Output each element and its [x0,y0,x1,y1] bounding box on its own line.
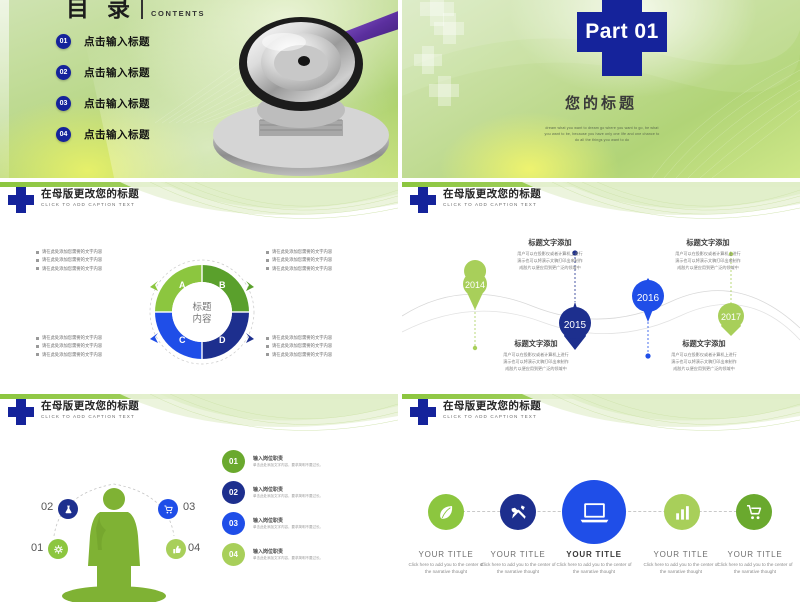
slide-timeline[interactable]: 在母版更改您的标题 CLICK TO ADD CAPTION TEXT 2014… [402,182,800,390]
role-text: 输入岗位职责 单击此处添加文字内容，要求简明不要过长。 [253,548,323,562]
header-title-en: CLICK TO ADD CAPTION TEXT [41,414,139,419]
timeline-entry-title: 标题文字添加 [480,339,592,349]
slide-contents[interactable]: 目 录 CONTENTS 01 点击输入标题 02 点击输入标题 03 点击输入… [0,0,398,178]
roles-list: 01 输入岗位职责 单击此处添加文字内容，要求简明不要过长。 02 输入岗位职责… [222,450,323,566]
timeline-entry-title: 标题文字添加 [494,238,606,248]
bullet-row: .请在此处添加您需要的文字内容 [36,256,102,264]
role-subtitle: 单击此处添加文字内容，要求简明不要过长。 [253,494,323,499]
slide-body-text: dream what you want to dream go where yo… [542,126,662,144]
timeline-year-2014: 2014 [465,280,485,290]
part-label: Part 01 [577,12,667,52]
timeline-body-line: 用户可以在投影仪或者计算机上进行 [494,250,606,257]
role-subtitle: 单击此处添加文字内容，要求简明不要过长。 [253,525,323,530]
bullet-marker: . [36,251,39,254]
cross-logo-icon [8,187,34,213]
bullet-marker: . [36,345,39,348]
timeline-entry-title: 标题文字添加 [652,238,764,248]
timeline-body-line: 成胶片以便应用到更广泛的领域中 [494,264,606,271]
timeline-body-line: 成胶片以便应用到更广泛的领域中 [648,365,760,372]
cross-logo-icon [410,399,436,425]
cross-logo-icon [410,187,436,213]
bullet-block-top-right: .请在此处添加您需要的文字内容 .请在此处添加您需要的文字内容 .请在此处添加您… [266,248,332,273]
node-number-01: 01 [31,542,43,554]
header-title-en: CLICK TO ADD CAPTION TEXT [443,414,541,419]
timeline-body-line: 演示也可以将演示文稿打印出来制作 [648,358,760,365]
bullet-text: 请在此处添加您需要的文字内容 [42,342,102,350]
role-number: 03 [222,512,245,535]
role-number: 02 [222,481,245,504]
cart-glyph [745,503,764,522]
leaf-glyph [437,503,456,522]
node-number-04: 04 [188,542,200,554]
bullet-text: 请在此处添加您需要的文字内容 [272,256,332,264]
bullet-text: 请在此处添加您需要的文字内容 [42,334,102,342]
icon-desc: Click here to add you to the center of t… [642,561,720,575]
timeline-year-2016: 2016 [637,293,660,304]
role-number: 01 [222,450,245,473]
icon-title: YOUR TITLE [716,550,794,559]
role-title: 输入岗位职责 [253,517,323,524]
icon-caption-1: YOUR TITLE Click here to add you to the … [407,550,485,575]
icon-caption-3: YOUR TITLE Click here to add you to the … [555,550,633,575]
contents-item[interactable]: 01 点击输入标题 [56,34,150,49]
bullet-text: 请在此处添加您需要的文字内容 [272,351,332,359]
role-subtitle: 单击此处添加文字内容，要求简明不要过长。 [253,463,323,468]
bar-chart-glyph [673,503,692,522]
role-title: 输入岗位职责 [253,548,323,555]
timeline-body-line: 成胶片以便应用到更广泛的领域中 [652,264,764,271]
bullet-text: 请在此处添加您需要的文字内容 [42,248,102,256]
bullet-block-top-left: .请在此处添加您需要的文字内容 .请在此处添加您需要的文字内容 .请在此处添加您… [36,248,102,273]
bullet-row: .请在此处添加您需要的文字内容 [36,265,102,273]
contents-item[interactable]: 03 点击输入标题 [56,96,150,111]
timeline-entry-body: 用户可以在投影仪或者计算机上进行 演示也可以将演示文稿打印出来制作 成胶片以便应… [652,250,764,271]
leaf-icon[interactable] [428,494,464,530]
header-title-cn: 在母版更改您的标题 [443,188,541,201]
tools-icon[interactable] [500,494,536,530]
segment-label-c: C [179,335,186,345]
slide-part-01[interactable]: Part 01 您的标题 dream what you want to drea… [402,0,800,178]
bullet-row: .请在此处添加您需要的文字内容 [266,265,332,273]
thumbs-up-icon[interactable] [166,539,186,559]
timeline-body-line: 演示也可以将演示文稿打印出来制作 [652,257,764,264]
cross-logo-icon [8,399,34,425]
role-title: 输入岗位职责 [253,455,323,462]
timeline-entry-2016: 标题文字添加 用户可以在投影仪或者计算机上进行 演示也可以将演示文稿打印出来制作… [652,238,764,271]
role-title: 输入岗位职责 [253,486,323,493]
role-item[interactable]: 04 输入岗位职责 单击此处添加文字内容，要求简明不要过长。 [222,543,323,566]
title-divider [141,0,143,19]
timeline-body-line: 用户可以在投影仪或者计算机上进行 [480,351,592,358]
bullet-row: .请在此处添加您需要的文字内容 [266,256,332,264]
timeline-year-2017: 2017 [721,312,741,322]
flask-icon[interactable] [58,499,78,519]
bullet-row: .请在此处添加您需要的文字内容 [266,248,332,256]
contents-item-number: 01 [56,34,71,49]
header-title-cn: 在母版更改您的标题 [443,400,541,413]
bullet-marker: . [36,259,39,262]
cart-icon[interactable] [158,499,178,519]
bullet-text: 请在此处添加您需要的文字内容 [272,265,332,273]
stethoscope-icon [196,2,398,178]
icon-caption-4: YOUR TITLE Click here to add you to the … [642,550,720,575]
node-number-02: 02 [41,501,53,513]
slide-five-icons[interactable]: 在母版更改您的标题 CLICK TO ADD CAPTION TEXT [402,394,800,602]
bullet-text: 请在此处添加您需要的文字内容 [272,334,332,342]
bullet-marker: . [266,267,269,270]
contents-item-label: 点击输入标题 [84,34,150,49]
gear-icon[interactable] [48,539,68,559]
timeline-entry-title: 标题文字添加 [648,339,760,349]
timeline-body-line: 演示也可以将演示文稿打印出来制作 [480,358,592,365]
slide-title: 您的标题 [402,92,800,113]
segment-label-a: A [179,280,186,290]
bullet-row: .请在此处添加您需要的文字内容 [266,334,332,342]
header-title-en: CLICK TO ADD CAPTION TEXT [41,202,139,207]
bullet-row: .请在此处添加您需要的文字内容 [36,351,102,359]
icon-title: YOUR TITLE [407,550,485,559]
slide-header-text: 在母版更改您的标题 CLICK TO ADD CAPTION TEXT [41,188,139,207]
bullet-marker: . [266,251,269,254]
icon-desc: Click here to add you to the center of t… [555,561,633,575]
bullet-marker: . [266,345,269,348]
icon-desc: Click here to add you to the center of t… [479,561,557,575]
bullet-text: 请在此处添加您需要的文字内容 [272,342,332,350]
bullet-text: 请在此处添加您需要的文字内容 [42,351,102,359]
timeline-body-line: 用户可以在投影仪或者计算机上进行 [652,250,764,257]
bullet-marker: . [266,337,269,340]
icon-desc: Click here to add you to the center of t… [716,561,794,575]
bullet-marker: . [36,267,39,270]
icon-caption-2: YOUR TITLE Click here to add you to the … [479,550,557,575]
bullet-marker: . [36,337,39,340]
timeline-entry-body: 用户可以在投影仪或者计算机上进行 演示也可以将演示文稿打印出来制作 成胶片以便应… [480,351,592,372]
contents-item-number: 03 [56,96,71,111]
slide-header-text: 在母版更改您的标题 CLICK TO ADD CAPTION TEXT [443,188,541,207]
gear-glyph [53,544,64,555]
slide-header-text: 在母版更改您的标题 CLICK TO ADD CAPTION TEXT [41,400,139,419]
bullet-row: .请在此处添加您需要的文字内容 [36,248,102,256]
bullet-text: 请在此处添加您需要的文字内容 [272,248,332,256]
icon-title: YOUR TITLE [479,550,557,559]
contents-item-label: 点击输入标题 [84,96,150,111]
timeline-body-line: 成胶片以便应用到更广泛的领域中 [480,365,592,372]
role-text: 输入岗位职责 单击此处添加文字内容，要求简明不要过长。 [253,486,323,500]
bullet-marker: . [266,353,269,356]
slide-donut-diagram[interactable]: 在母版更改您的标题 CLICK TO ADD CAPTION TEXT A B [0,182,398,390]
bullet-marker: . [36,353,39,356]
role-text: 输入岗位职责 单击此处添加文字内容，要求简明不要过长。 [253,455,323,469]
contents-list: 01 点击输入标题 02 点击输入标题 03 点击输入标题 04 点击输入标题 [56,34,150,142]
slide-roles[interactable]: 在母版更改您的标题 CLICK TO ADD CAPTION TEXT 01 0… [0,394,398,602]
donut-center-line1: 标题 [192,301,212,313]
part-number-badge: Part 01 [577,0,667,80]
icon-title: YOUR TITLE [555,550,633,559]
bullet-marker: . [266,259,269,262]
bullet-block-bottom-left: .请在此处添加您需要的文字内容 .请在此处添加您需要的文字内容 .请在此处添加您… [36,334,102,359]
cart-icon[interactable] [736,494,772,530]
contents-item[interactable]: 04 点击输入标题 [56,127,150,142]
icon-caption-5: YOUR TITLE Click here to add you to the … [716,550,794,575]
timeline-entry-body: 用户可以在投影仪或者计算机上进行 演示也可以将演示文稿打印出来制作 成胶片以便应… [648,351,760,372]
timeline-entry-body: 用户可以在投影仪或者计算机上进行 演示也可以将演示文稿打印出来制作 成胶片以便应… [494,250,606,271]
timeline-body-line: 演示也可以将演示文稿打印出来制作 [494,257,606,264]
contents-header: 目 录 CONTENTS [66,0,205,21]
node-number-03: 03 [183,501,195,513]
bullet-block-bottom-right: .请在此处添加您需要的文字内容 .请在此处添加您需要的文字内容 .请在此处添加您… [266,334,332,359]
contents-item-number: 02 [56,65,71,80]
bar-chart-icon[interactable] [664,494,700,530]
bullet-row: .请在此处添加您需要的文字内容 [266,351,332,359]
header-title-cn: 在母版更改您的标题 [41,400,139,413]
left-light-bar [0,0,9,178]
bullet-row: .请在此处添加您需要的文字内容 [266,342,332,350]
contents-title-cn: 目 录 [66,0,135,21]
contents-item[interactable]: 02 点击输入标题 [56,65,150,80]
cart-glyph [163,504,174,515]
laptop-glyph [578,496,611,529]
role-item[interactable]: 01 输入岗位职责 单击此处添加文字内容，要求简明不要过长。 [222,450,323,473]
person-diagram [14,458,214,602]
bullet-text: 请在此处添加您需要的文字内容 [42,256,102,264]
role-item[interactable]: 03 输入岗位职责 单击此处添加文字内容，要求简明不要过长。 [222,512,323,535]
slide-thumbnail-grid: 目 录 CONTENTS 01 点击输入标题 02 点击输入标题 03 点击输入… [0,0,800,600]
header-title-cn: 在母版更改您的标题 [41,188,139,201]
role-text: 输入岗位职责 单击此处添加文字内容，要求简明不要过长。 [253,517,323,531]
timeline-year-2015: 2015 [564,320,587,331]
bullet-row: .请在此处添加您需要的文字内容 [36,342,102,350]
bullet-row: .请在此处添加您需要的文字内容 [36,334,102,342]
tools-glyph [509,503,528,522]
donut-center-line2: 内容 [192,313,212,325]
contents-item-label: 点击输入标题 [84,127,150,142]
flask-glyph [63,504,74,515]
timeline-body-line: 用户可以在投影仪或者计算机上进行 [648,351,760,358]
contents-item-label: 点击输入标题 [84,65,150,80]
donut-chart[interactable]: A B C D 标题 内容 [148,245,256,380]
role-number: 04 [222,543,245,566]
timeline-entry-2017: 标题文字添加 用户可以在投影仪或者计算机上进行 演示也可以将演示文稿打印出来制作… [648,339,760,372]
segment-label-d: D [219,335,226,345]
icon-desc: Click here to add you to the center of t… [407,561,485,575]
slide-header-text: 在母版更改您的标题 CLICK TO ADD CAPTION TEXT [443,400,541,419]
header-title-en: CLICK TO ADD CAPTION TEXT [443,202,541,207]
donut-svg: A B C D 标题 内容 [148,245,256,380]
icon-title: YOUR TITLE [642,550,720,559]
role-item[interactable]: 02 输入岗位职责 单击此处添加文字内容，要求简明不要过长。 [222,481,323,504]
bullet-text: 请在此处添加您需要的文字内容 [42,265,102,273]
role-subtitle: 单击此处添加文字内容，要求简明不要过长。 [253,556,323,561]
segment-label-b: B [219,280,226,290]
thumbs-up-glyph [171,544,182,555]
timeline-entry-2015: 标题文字添加 用户可以在投影仪或者计算机上进行 演示也可以将演示文稿打印出来制作… [494,238,606,271]
laptop-icon[interactable] [562,480,626,544]
timeline-entry-2014: 标题文字添加 用户可以在投影仪或者计算机上进行 演示也可以将演示文稿打印出来制作… [480,339,592,372]
contents-item-number: 04 [56,127,71,142]
